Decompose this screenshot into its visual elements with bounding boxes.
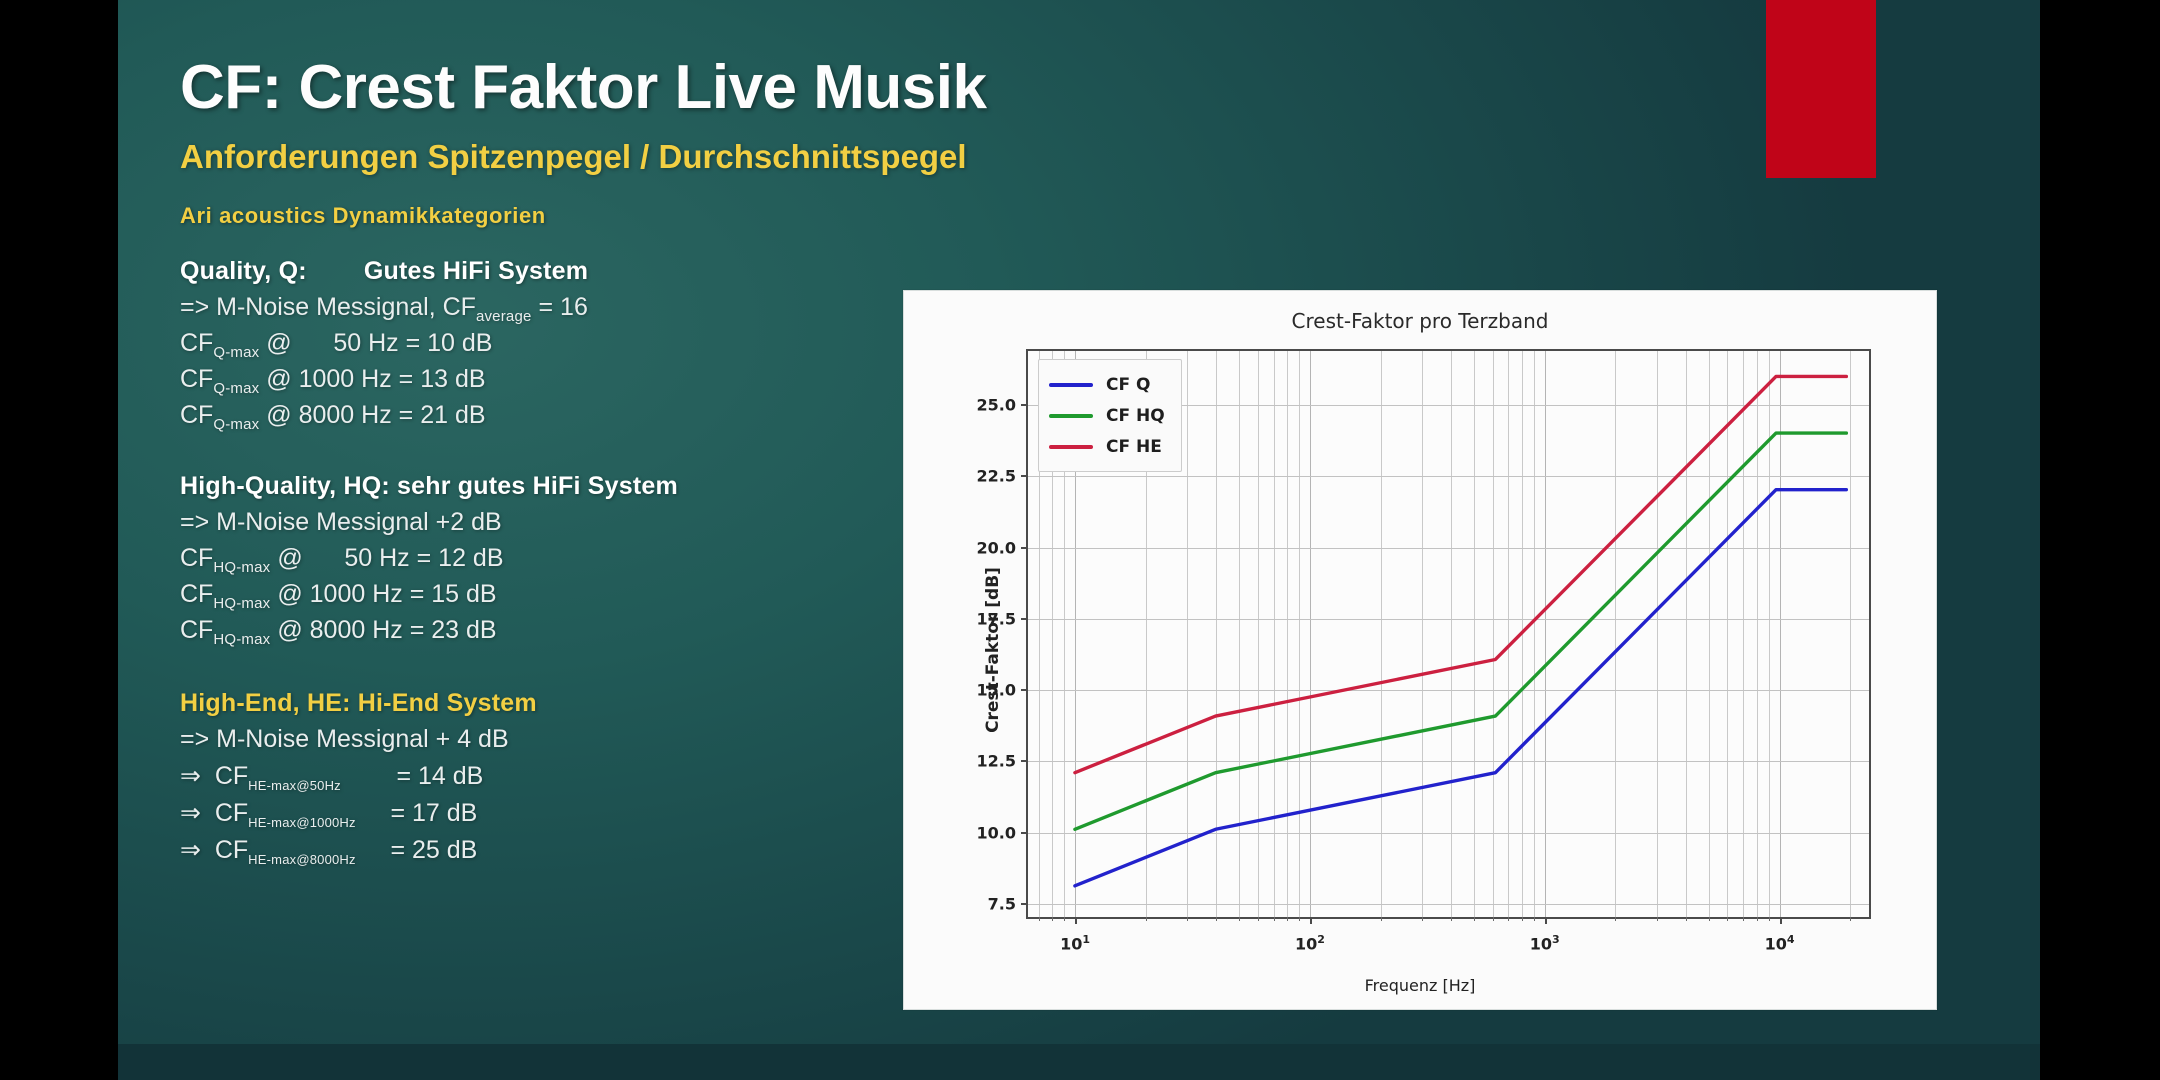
y-tick-mark	[1021, 689, 1028, 691]
spec-prefix: CF	[180, 365, 213, 393]
x-tick-mark	[1451, 917, 1452, 921]
spec-prefix: CF	[180, 401, 213, 429]
legend-label: CF Q	[1106, 375, 1150, 395]
spec-prefix: CF	[180, 580, 213, 608]
spec-value: = 14 dB	[341, 762, 483, 790]
x-tick-mark	[1769, 917, 1770, 921]
category-high-end: High-End, HE: Hi-End System => M-Noise M…	[180, 689, 880, 865]
spec-subscript: HQ-max	[213, 559, 270, 576]
note-text: => M-Noise Messignal + 4 dB	[180, 725, 509, 753]
x-tick-mark	[1850, 917, 1851, 921]
spec-row: CFHQ-max @ 50 Hz = 12 dB	[180, 544, 880, 573]
legend-swatch-icon	[1049, 445, 1093, 449]
legend-label: CF HE	[1106, 437, 1162, 457]
spec-row: CFHQ-max @ 1000 Hz = 15 dB	[180, 580, 880, 609]
x-tick-mark	[1422, 917, 1423, 921]
y-tick-mark	[1021, 547, 1028, 549]
y-tick-label: 12.5	[977, 752, 1016, 771]
chart-y-axis-label: Crest-Faktor [dB]	[983, 567, 1003, 733]
spec-row: CFQ-max @ 1000 Hz = 13 dB	[180, 365, 880, 394]
y-tick-label: 22.5	[977, 467, 1016, 486]
slide-canvas: CF: Crest Faktor Live Musik Anforderunge…	[118, 0, 2040, 1080]
chart-x-axis-label: Frequenz [Hz]	[904, 976, 1936, 995]
spec-prefix: ⇒ CF	[180, 836, 248, 864]
spec-value: = 25 dB	[356, 836, 478, 864]
y-tick-label: 20.0	[977, 538, 1016, 557]
content-column: Ari acoustics Dynamikkategorien Quality,…	[180, 203, 880, 865]
y-tick-mark	[1021, 475, 1028, 477]
spec-row: ⇒ CFHE-max@50Hz = 14 dB	[180, 761, 880, 791]
y-tick-mark	[1021, 832, 1028, 834]
legend-swatch-icon	[1049, 383, 1093, 387]
spec-prefix: CF	[180, 616, 213, 644]
chart-panel: Crest-Faktor pro Terzband Crest-Faktor […	[903, 290, 1937, 1010]
spec-value: @ 8000 Hz = 23 dB	[270, 616, 496, 644]
x-tick-mark	[1075, 917, 1077, 924]
y-tick-mark	[1021, 760, 1028, 762]
letterbox-bar-right	[2040, 0, 2160, 1080]
note-subscript: average	[476, 308, 532, 325]
spec-value: @ 1000 Hz = 13 dB	[259, 365, 485, 393]
x-tick-mark	[1743, 917, 1744, 921]
spec-subscript: HQ-max	[213, 631, 270, 648]
spec-subscript: HE-max@1000Hz	[248, 815, 356, 830]
spec-row: CFQ-max @ 8000 Hz = 21 dB	[180, 401, 880, 430]
legend-item[interactable]: CF HE	[1049, 431, 1165, 462]
spec-subscript: HE-max@8000Hz	[248, 852, 356, 867]
x-tick-mark	[1052, 917, 1053, 921]
x-tick-mark	[1299, 917, 1300, 921]
page-subtitle: Anforderungen Spitzenpegel / Durchschnit…	[180, 138, 967, 176]
x-tick-mark	[1274, 917, 1275, 921]
category-note: => M-Noise Messignal + 4 dB	[180, 725, 880, 754]
plot-area-wrapper: 7.510.012.515.017.520.022.525.0101102103…	[1026, 349, 1871, 919]
spec-value: @ 50 Hz = 10 dB	[259, 329, 492, 357]
spec-subscript: Q-max	[213, 344, 259, 361]
spec-prefix: ⇒ CF	[180, 762, 248, 790]
x-tick-label: 102	[1295, 933, 1325, 953]
category-header: High-Quality, HQ: sehr gutes HiFi System	[180, 472, 880, 501]
x-tick-mark	[1522, 917, 1523, 921]
x-tick-label: 101	[1060, 933, 1090, 953]
category-note: => M-Noise Messignal +2 dB	[180, 508, 880, 537]
spec-subscript: HQ-max	[213, 595, 270, 612]
y-tick-label: 15.0	[977, 681, 1016, 700]
legend-label: CF HQ	[1106, 406, 1165, 426]
x-tick-mark	[1474, 917, 1475, 921]
x-tick-mark	[1381, 917, 1382, 921]
y-tick-label: 7.5	[988, 894, 1016, 913]
x-tick-mark	[1258, 917, 1259, 921]
slide-root: CF: Crest Faktor Live Musik Anforderunge…	[0, 0, 2160, 1080]
x-tick-mark	[1508, 917, 1509, 921]
x-tick-mark	[1545, 917, 1547, 924]
spec-subscript: HE-max@50Hz	[248, 778, 341, 793]
legend-swatch-icon	[1049, 414, 1093, 418]
x-tick-mark	[1493, 917, 1494, 921]
x-tick-mark	[1287, 917, 1288, 921]
x-tick-mark	[1216, 917, 1217, 921]
x-tick-mark	[1534, 917, 1535, 921]
x-tick-label: 103	[1530, 933, 1560, 953]
chart-title: Crest-Faktor pro Terzband	[904, 309, 1936, 333]
y-tick-label: 25.0	[977, 396, 1016, 415]
y-tick-label: 17.5	[977, 609, 1016, 628]
spec-subscript: Q-max	[213, 380, 259, 397]
spec-prefix: CF	[180, 329, 213, 357]
x-tick-mark	[1727, 917, 1728, 921]
category-quality: Quality, Q: Gutes HiFi System => M-Noise…	[180, 257, 880, 430]
spec-row: ⇒ CFHE-max@1000Hz = 17 dB	[180, 798, 880, 828]
spec-row: CFHQ-max @ 8000 Hz = 23 dB	[180, 616, 880, 645]
chart-legend: CF QCF HQCF HE	[1038, 359, 1182, 472]
series-line	[1075, 433, 1846, 829]
section-kicker: Ari acoustics Dynamikkategorien	[180, 203, 880, 229]
spec-row: CFQ-max @ 50 Hz = 10 dB	[180, 329, 880, 358]
legend-item[interactable]: CF HQ	[1049, 400, 1165, 431]
spec-prefix: ⇒ CF	[180, 799, 248, 827]
y-tick-mark	[1021, 903, 1028, 905]
x-tick-mark	[1310, 917, 1312, 924]
x-tick-mark	[1686, 917, 1687, 921]
x-tick-mark	[1780, 917, 1782, 924]
x-tick-mark	[1757, 917, 1758, 921]
series-line	[1075, 376, 1846, 772]
note-text: => M-Noise Messignal +2 dB	[180, 508, 502, 536]
x-tick-mark	[1039, 917, 1040, 921]
category-header: High-End, HE: Hi-End System	[180, 689, 880, 718]
page-title: CF: Crest Faktor Live Musik	[180, 52, 986, 123]
x-tick-mark	[1146, 917, 1147, 921]
x-tick-mark	[1657, 917, 1658, 921]
spec-prefix: CF	[180, 544, 213, 572]
series-line	[1075, 490, 1846, 886]
spec-value: @ 1000 Hz = 15 dB	[270, 580, 496, 608]
y-tick-mark	[1021, 404, 1028, 406]
x-tick-mark	[1615, 917, 1616, 921]
category-high-quality: High-Quality, HQ: sehr gutes HiFi System…	[180, 472, 880, 645]
note-tail: = 16	[532, 293, 588, 321]
spec-row: ⇒ CFHE-max@8000Hz = 25 dB	[180, 835, 880, 865]
y-tick-mark	[1021, 618, 1028, 620]
accent-bar	[1766, 0, 1876, 178]
spec-subscript: Q-max	[213, 416, 259, 433]
y-tick-label: 10.0	[977, 823, 1016, 842]
spec-value: @ 8000 Hz = 21 dB	[259, 401, 485, 429]
plot-area: 7.510.012.515.017.520.022.525.0101102103…	[1026, 349, 1871, 919]
spec-value: = 17 dB	[356, 799, 478, 827]
x-tick-label: 104	[1765, 933, 1795, 953]
spec-value: @ 50 Hz = 12 dB	[270, 544, 503, 572]
x-tick-mark	[1064, 917, 1065, 921]
x-tick-mark	[1709, 917, 1710, 921]
legend-item[interactable]: CF Q	[1049, 369, 1165, 400]
letterbox-bar-left	[0, 0, 118, 1080]
category-note: => M-Noise Messignal, CFaverage = 16	[180, 293, 880, 322]
category-header: Quality, Q: Gutes HiFi System	[180, 257, 880, 286]
x-tick-mark	[1239, 917, 1240, 921]
note-text: => M-Noise Messignal, CF	[180, 293, 476, 321]
x-tick-mark	[1187, 917, 1188, 921]
